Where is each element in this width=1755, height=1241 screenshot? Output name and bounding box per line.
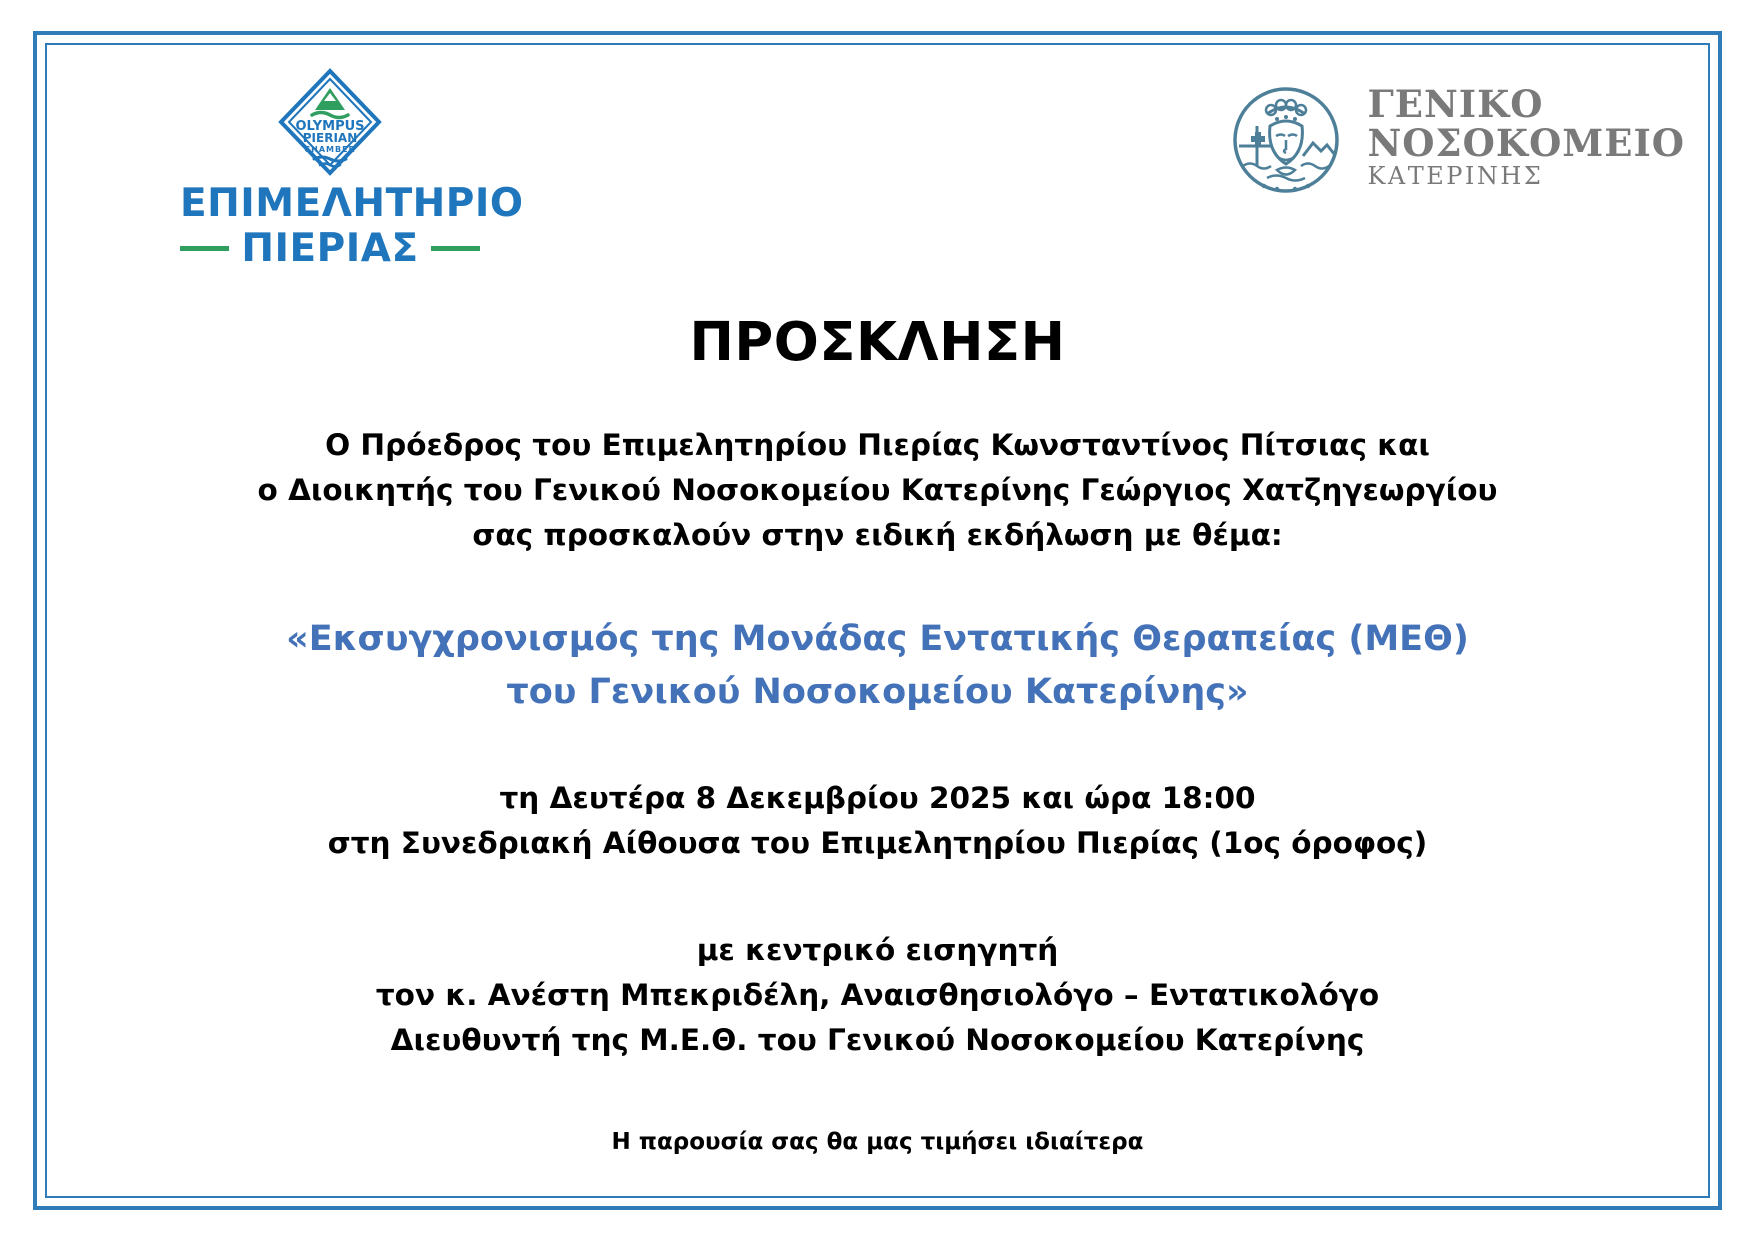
chamber-region-label: ΠΙΕΡΙΑΣ: [241, 229, 418, 268]
intro-paragraph: Ο Πρόεδρος του Επιμελητηρίου Πιερίας Κων…: [60, 423, 1695, 557]
invitation-page: OLYMPUS PIERIAN CHAMBER ΕΠΙΜΕΛΗΤΗΡΙΟ ΠΙΕ…: [0, 0, 1755, 1241]
theme-line-2: του Γενικού Νοσοκομείου Κατερίνης»: [60, 666, 1695, 719]
chamber-name-label: ΕΠΙΜΕΛΗΤΗΡΙΟ: [180, 184, 480, 225]
hospital-name-block: ΓΕΝΙΚΟ ΝΟΣΟΚΟΜΕΙΟ ΚΑΤΕΡΙΝΗΣ: [1367, 85, 1685, 189]
hospital-emblem-icon: [1227, 78, 1345, 196]
event-datetime: τη Δευτέρα 8 Δεκεμβρίου 2025 και ώρα 18:…: [60, 776, 1695, 821]
svg-text:CHAMBER: CHAMBER: [304, 145, 355, 154]
chamber-logo: OLYMPUS PIERIAN CHAMBER ΕΠΙΜΕΛΗΤΗΡΙΟ ΠΙΕ…: [180, 66, 480, 268]
intro-line-2: ο Διοικητής του Γενικού Νοσοκομείου Κατε…: [60, 468, 1695, 513]
event-venue: στη Συνεδριακή Αίθουσα του Επιμελητηρίου…: [60, 821, 1695, 866]
hospital-name-line3: ΚΑΤΕΡΙΝΗΣ: [1367, 164, 1685, 189]
svg-text:PIERIAN: PIERIAN: [303, 131, 358, 145]
closing-note: Η παρουσία σας θα μας τιμήσει ιδιαίτερα: [60, 1125, 1695, 1160]
speaker-name: τον κ. Ανέστη Μπεκριδέλη, Αναισθησιολόγο…: [60, 973, 1695, 1018]
logo-header: OLYMPUS PIERIAN CHAMBER ΕΠΙΜΕΛΗΤΗΡΙΟ ΠΙΕ…: [60, 56, 1695, 256]
speaker-intro-label: με κεντρικό εισηγητή: [60, 928, 1695, 973]
chamber-region-row: ΠΙΕΡΙΑΣ: [180, 229, 480, 268]
hospital-name-line2: ΝΟΣΟΚΟΜΕΙΟ: [1367, 124, 1685, 162]
event-datetime-venue: τη Δευτέρα 8 Δεκεμβρίου 2025 και ώρα 18:…: [60, 776, 1695, 866]
intro-line-1: Ο Πρόεδρος του Επιμελητηρίου Πιερίας Κων…: [60, 423, 1695, 468]
intro-line-3: σας προσκαλούν στην ειδική εκδήλωση με θ…: [60, 513, 1695, 558]
hospital-logo: ΓΕΝΙΚΟ ΝΟΣΟΚΟΜΕΙΟ ΚΑΤΕΡΙΝΗΣ: [1227, 78, 1685, 196]
speaker-role: Διευθυντή της Μ.Ε.Θ. του Γενικού Νοσοκομ…: [60, 1018, 1695, 1063]
theme-line-1: «Εκσυγχρονισμός της Μονάδας Εντατικής Θε…: [60, 613, 1695, 666]
event-theme: «Εκσυγχρονισμός της Μονάδας Εντατικής Θε…: [60, 613, 1695, 718]
page-content: OLYMPUS PIERIAN CHAMBER ΕΠΙΜΕΛΗΤΗΡΙΟ ΠΙΕ…: [60, 56, 1695, 1185]
page-title: ΠΡΟΣΚΛΗΣΗ: [60, 312, 1695, 373]
hospital-name-line1: ΓΕΝΙΚΟ: [1367, 85, 1685, 123]
chamber-rule-left: [180, 246, 229, 251]
chamber-rule-right: [431, 246, 480, 251]
keynote-speaker-block: με κεντρικό εισηγητή τον κ. Ανέστη Μπεκρ…: [60, 928, 1695, 1062]
olympus-pierian-chamber-badge-icon: OLYMPUS PIERIAN CHAMBER: [274, 66, 386, 178]
